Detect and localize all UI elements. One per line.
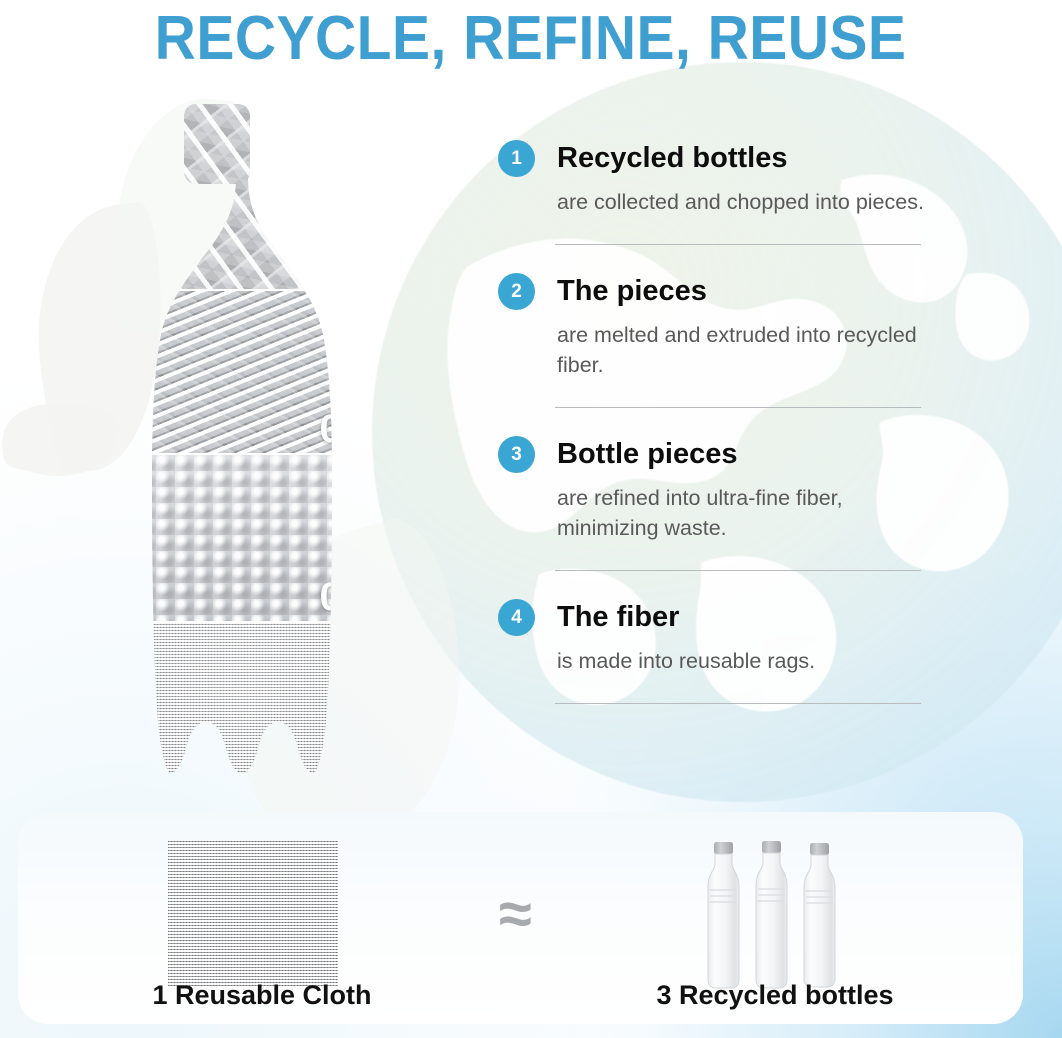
recycled-bottles-icon: [700, 832, 850, 992]
step-gap-3: [498, 571, 938, 599]
step-divider-4: [555, 703, 921, 704]
process-step-2: 2 The pieces are melted and extruded int…: [498, 273, 938, 408]
bottle-stage-diagram: 01 02 03 04: [118, 104, 388, 796]
step-title-1: Recycled bottles: [557, 144, 787, 173]
step-title-4: The fiber: [557, 603, 679, 632]
reusable-cloth-swatch-icon: [168, 840, 338, 986]
step-body-3: are refined into ultra-fine fiber, minim…: [557, 483, 938, 544]
bottle-silhouette-mask: 01 02 03 04: [118, 104, 388, 796]
bottle-band-04-number: 04: [320, 752, 367, 792]
process-step-3: 3 Bottle pieces are refined into ultra-f…: [498, 436, 938, 571]
bottle-band-02: 02: [118, 291, 388, 455]
step-title-3: Bottle pieces: [557, 440, 738, 469]
process-step-4-head: 4 The fiber: [498, 599, 938, 636]
bottle-band-01: 01: [118, 104, 388, 291]
step-body-4: is made into reusable rags.: [557, 646, 938, 677]
step-gap-2: [498, 408, 938, 436]
page-title-text: RECYCLE, REFINE, REUSE: [155, 8, 907, 70]
bottle-band-02-number: 02: [320, 409, 367, 449]
recycled-bottles-label: 3 Recycled bottles: [630, 980, 920, 1011]
process-step-3-head: 3 Bottle pieces: [498, 436, 938, 473]
step-title-2: The pieces: [557, 277, 707, 306]
process-step-1: 1 Recycled bottles are collected and cho…: [498, 140, 938, 245]
page-title: RECYCLE, REFINE, REUSE: [0, 0, 1062, 78]
step-gap-1: [498, 245, 938, 273]
equivalence-card: ≈: [18, 812, 1023, 1024]
step-divider-1: [555, 244, 921, 245]
reusable-cloth-label: 1 Reusable Cloth: [118, 980, 406, 1011]
process-steps-list: 1 Recycled bottles are collected and cho…: [498, 140, 938, 704]
process-step-1-head: 1 Recycled bottles: [498, 140, 938, 177]
step-number-badge-4: 4: [498, 599, 535, 636]
bottle-band-04: 04: [118, 623, 388, 796]
step-body-2: are melted and extruded into recycled fi…: [557, 320, 938, 381]
step-divider-2: [555, 407, 921, 408]
process-step-2-head: 2 The pieces: [498, 273, 938, 310]
step-body-1: are collected and chopped into pieces.: [557, 187, 938, 218]
step-number-badge-2: 2: [498, 273, 535, 310]
bottle-band-03: 03: [118, 455, 388, 623]
bottle-band-03-number: 03: [320, 577, 367, 617]
step-number-badge-1: 1: [498, 140, 535, 177]
approximately-equal-icon: ≈: [473, 874, 558, 954]
step-divider-3: [555, 570, 921, 571]
bottle-band-01-number: 01: [320, 245, 367, 285]
step-number-badge-3: 3: [498, 436, 535, 473]
process-step-4: 4 The fiber is made into reusable rags.: [498, 599, 938, 705]
